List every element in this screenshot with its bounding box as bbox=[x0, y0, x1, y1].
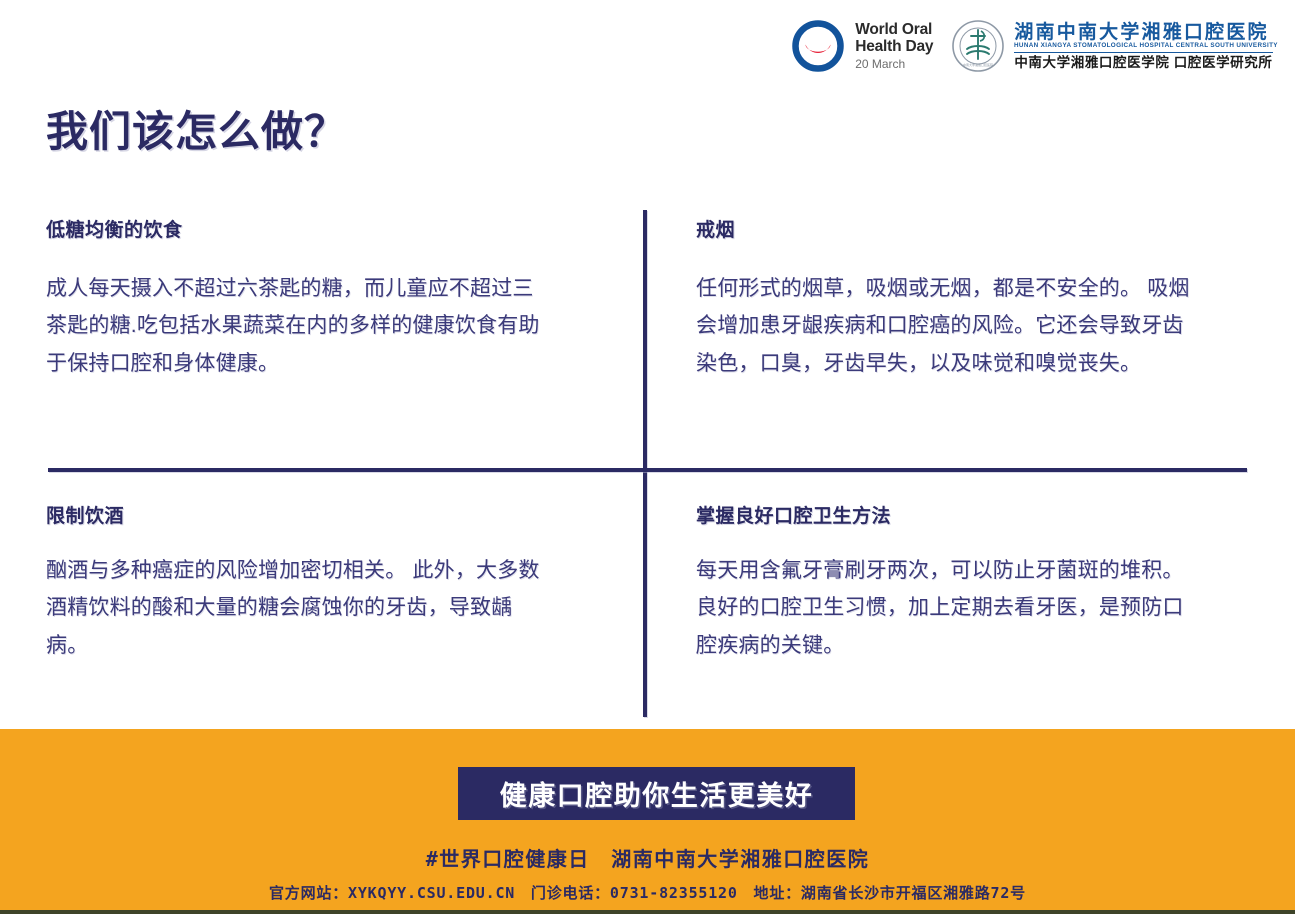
tagline-banner: 健康口腔助你生活更美好 bbox=[458, 767, 855, 820]
vertical-divider bbox=[643, 210, 647, 717]
hospital-name-cn: 湖南中南大学湘雅口腔医院 bbox=[1014, 23, 1273, 42]
wohd-date: 20 March bbox=[855, 58, 933, 71]
hospital-subname-cn: 中南大学湘雅口腔医学院 口腔医学研究所 bbox=[1014, 56, 1273, 70]
header-logo-bar: World Oral Health Day 20 March 中南大学湘雅口腔医… bbox=[790, 18, 1273, 74]
svg-text:中南大学湘雅口腔医院: 中南大学湘雅口腔医院 bbox=[963, 62, 993, 67]
advice-grid: 低糖均衡的饮食 成人每天摄入不超过六茶匙的糖，而儿童应不超过三茶匙的糖.吃包括水… bbox=[46, 205, 1247, 717]
advice-heading: 限制饮酒 bbox=[46, 501, 546, 528]
hospital-logo: 中南大学湘雅口腔医院 湖南中南大学湘雅口腔医院 HUNAN XIANGYA ST… bbox=[951, 19, 1273, 73]
horizontal-divider bbox=[48, 468, 1247, 472]
footer-bottom-strip bbox=[0, 910, 1295, 914]
advice-body: 酗酒与多种癌症的风险增加密切相关。 此外，大多数酒精饮料的酸和大量的糖会腐蚀你的… bbox=[46, 552, 546, 664]
wohd-wordmark: World Oral Health Day 20 March bbox=[855, 21, 933, 71]
advice-body: 每天用含氟牙膏刷牙两次，可以防止牙菌斑的堆积。 良好的口腔卫生习惯，加上定期去看… bbox=[696, 552, 1196, 664]
advice-card-low-sugar-diet: 低糖均衡的饮食 成人每天摄入不超过六茶匙的糖，而儿童应不超过三茶匙的糖.吃包括水… bbox=[46, 215, 546, 382]
wohd-line2: Health Day bbox=[855, 38, 933, 55]
wohd-smile-icon bbox=[790, 18, 846, 74]
wohd-line1: World Oral bbox=[855, 21, 933, 38]
hospital-logo-divider bbox=[1014, 52, 1273, 53]
advice-card-good-oral-hygiene: 掌握良好口腔卫生方法 每天用含氟牙膏刷牙两次，可以防止牙菌斑的堆积。 良好的口腔… bbox=[696, 501, 1196, 664]
world-oral-health-day-logo: World Oral Health Day 20 March bbox=[790, 18, 933, 74]
page-title: 我们该怎么做？ bbox=[46, 98, 347, 159]
footer-hashtag-line: #世界口腔健康日 湖南中南大学湘雅口腔医院 bbox=[0, 843, 1295, 872]
advice-body: 成人每天摄入不超过六茶匙的糖，而儿童应不超过三茶匙的糖.吃包括水果蔬菜在内的多样… bbox=[46, 270, 546, 382]
hospital-name-en: HUNAN XIANGYA STOMATOLOGICAL HOSPITAL CE… bbox=[1014, 43, 1278, 49]
footer-contact-line: 官方网站：XYKQYY.CSU.EDU.CN 门诊电话：0731-8235512… bbox=[0, 882, 1295, 903]
advice-card-limit-alcohol: 限制饮酒 酗酒与多种癌症的风险增加密切相关。 此外，大多数酒精饮料的酸和大量的糖… bbox=[46, 501, 546, 664]
advice-body: 任何形式的烟草，吸烟或无烟，都是不安全的。 吸烟会增加患牙龈疾病和口腔癌的风险。… bbox=[696, 270, 1196, 382]
advice-card-quit-smoking: 戒烟 任何形式的烟草，吸烟或无烟，都是不安全的。 吸烟会增加患牙龈疾病和口腔癌的… bbox=[696, 215, 1196, 382]
advice-heading: 戒烟 bbox=[696, 215, 1196, 242]
advice-heading: 低糖均衡的饮食 bbox=[46, 215, 546, 242]
advice-heading: 掌握良好口腔卫生方法 bbox=[696, 501, 1196, 528]
tagline-text: 健康口腔助你生活更美好 bbox=[500, 774, 814, 813]
hospital-seal-icon: 中南大学湘雅口腔医院 bbox=[951, 19, 1005, 73]
hospital-wordmark: 湖南中南大学湘雅口腔医院 HUNAN XIANGYA STOMATOLOGICA… bbox=[1014, 23, 1273, 69]
footer-band: 健康口腔助你生活更美好 #世界口腔健康日 湖南中南大学湘雅口腔医院 官方网站：X… bbox=[0, 729, 1295, 910]
